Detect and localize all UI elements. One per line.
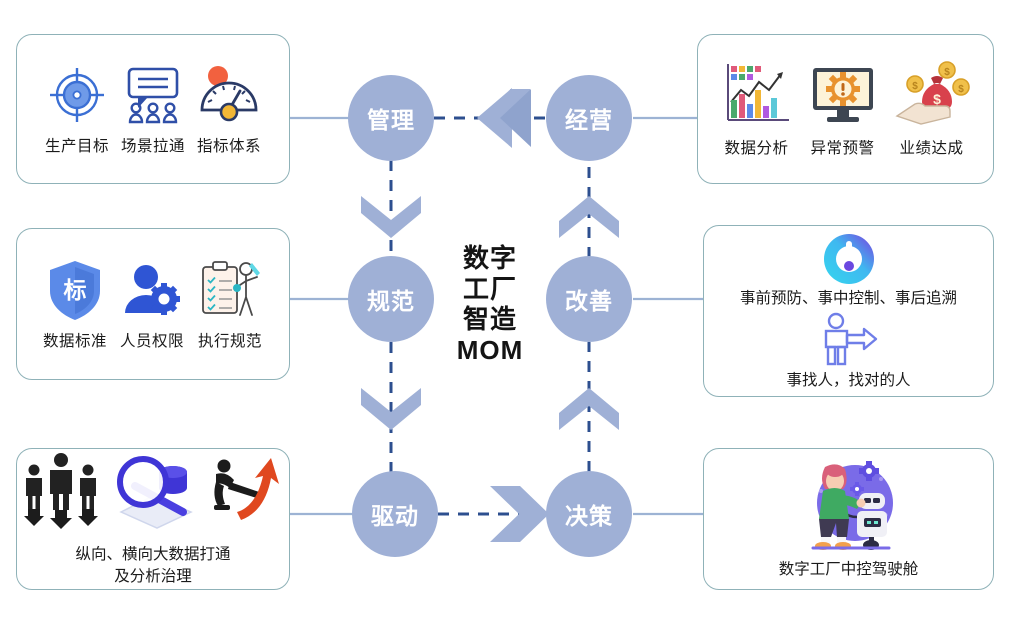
icon-cell-gauge[interactable]: 指标体系	[196, 62, 262, 156]
svg-text:$: $	[944, 67, 950, 78]
monitor-alert-icon	[807, 60, 879, 130]
person-arrow-icon	[816, 312, 882, 368]
icon-cell-scenario[interactable]: 场景拉通	[120, 62, 186, 156]
card-caption-prevention: 事前预防、事中控制、事后追溯	[740, 288, 957, 310]
icon-cell-bar-chart[interactable]: 数据分析	[721, 60, 793, 158]
icon-label: 指标体系	[197, 134, 261, 156]
target-icon	[44, 62, 110, 128]
icon-cell-target[interactable]: 生产目标	[44, 62, 110, 156]
node-gaishan[interactable]: 改善	[546, 256, 632, 342]
gradient-ring-icon	[820, 230, 878, 288]
icon-cell-shield[interactable]: 标 数据标准	[43, 257, 107, 351]
node-juece[interactable]: 决策	[546, 471, 632, 557]
arrow-left-top	[477, 88, 531, 148]
svg-text:$: $	[958, 84, 964, 95]
card-caption: 数字工厂中控驾驶舱	[779, 559, 919, 581]
icon-label: 场景拉通	[121, 134, 185, 156]
svg-text:$: $	[933, 91, 941, 107]
card-data-standard[interactable]: 标 数据标准	[16, 228, 290, 380]
bar-chart-icon	[721, 60, 793, 130]
chevron-up-right-upper	[559, 196, 619, 238]
gauge-icon	[196, 62, 262, 128]
arrow-right-bottom	[490, 486, 549, 542]
chevron-down-left-upper	[361, 196, 421, 238]
money-hand-icon: $ $ $ $	[893, 60, 971, 130]
icon-cell-monitor-alert[interactable]: 异常预警	[807, 60, 879, 158]
icon-cell-magnifier-data[interactable]	[107, 450, 199, 536]
icon-label: 执行规范	[198, 329, 262, 351]
user-permission-icon	[119, 257, 185, 323]
icon-label: 人员权限	[120, 329, 184, 351]
scenario-chat-icon	[120, 62, 186, 128]
people-group-icon	[19, 450, 103, 530]
magnifier-data-icon	[107, 450, 199, 530]
card-improve[interactable]: 事前预防、事中控制、事后追溯 事找人，找对的人	[703, 225, 994, 397]
icon-cell-pull-growth[interactable]	[203, 450, 287, 536]
svg-text:$: $	[912, 81, 918, 92]
pull-growth-arrow-icon	[203, 450, 287, 530]
icon-cell-money-hand[interactable]: $ $ $ $ 业绩达成	[893, 60, 971, 158]
icon-label: 数据分析	[724, 136, 788, 158]
chevron-up-right-lower	[559, 388, 619, 430]
clipboard-checklist-icon	[197, 257, 263, 323]
icon-cell-user-permission[interactable]: 人员权限	[119, 257, 185, 351]
icon-label: 异常预警	[810, 136, 874, 158]
center-title: 数字 工厂 智造 MOM	[440, 243, 540, 366]
svg-text:标: 标	[63, 277, 86, 303]
card-cockpit[interactable]: 数字工厂中控驾驶舱	[703, 448, 994, 590]
icon-label: 数据标准	[43, 329, 107, 351]
card-caption: 纵向、横向大数据打通 及分析治理	[75, 544, 230, 589]
node-jingying[interactable]: 经营	[546, 75, 632, 161]
card-caption-match: 事找人，找对的人	[786, 370, 910, 392]
icon-label: 生产目标	[45, 134, 109, 156]
shield-standard-icon: 标	[44, 257, 106, 323]
diagram-canvas: 生产目标 场景拉通	[0, 0, 1024, 641]
node-guanli[interactable]: 管理	[348, 75, 434, 161]
node-guifan[interactable]: 规范	[348, 256, 434, 342]
robot-operator-illustration	[785, 457, 913, 553]
icon-cell-clipboard[interactable]: 执行规范	[197, 257, 263, 351]
card-analysis[interactable]: 数据分析	[697, 34, 994, 184]
card-bigdata[interactable]: 纵向、横向大数据打通 及分析治理	[16, 448, 290, 590]
icon-cell-people-group[interactable]	[19, 450, 103, 536]
card-production-goal[interactable]: 生产目标 场景拉通	[16, 34, 290, 184]
node-qudong[interactable]: 驱动	[352, 471, 438, 557]
chevron-down-left-lower	[361, 388, 421, 430]
icon-label: 业绩达成	[899, 136, 963, 158]
